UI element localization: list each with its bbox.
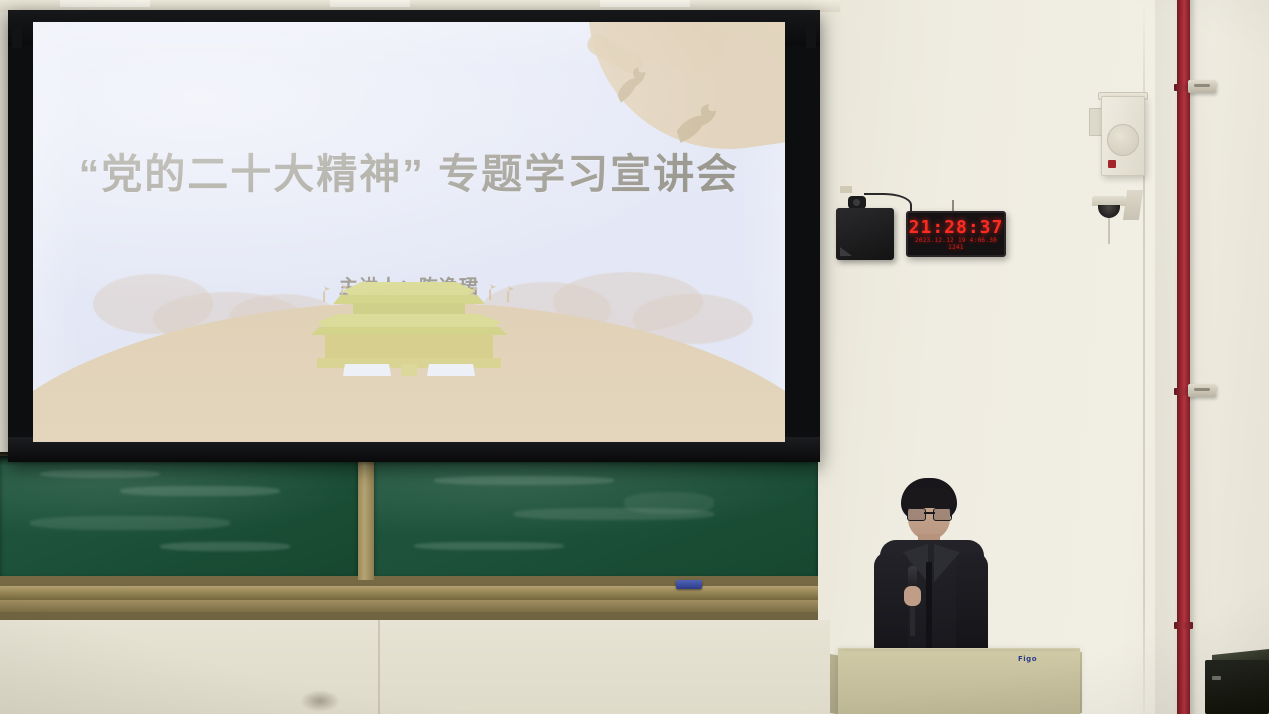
chalkboard-eraser[interactable] [676, 580, 702, 589]
lower-wall-seam [378, 620, 380, 714]
fire-sprinkler-pipe [1177, 0, 1190, 714]
glasses-icon [907, 508, 952, 519]
right-arm [956, 552, 988, 658]
pipe-collar [1174, 622, 1193, 629]
tiananmen-gate-illustration [309, 282, 509, 374]
ceiling-light-reflection [600, 0, 690, 7]
wall-smudge [300, 690, 340, 712]
slide-title: “党的二十大精神” 专题学习宣讲会 [33, 140, 785, 200]
equipment-indicator [1212, 676, 1221, 680]
chalkboard [0, 452, 818, 622]
pipe-bracket [1188, 80, 1216, 93]
chalkboard-panel-right [374, 456, 818, 576]
left-arm [874, 552, 908, 658]
podium-logo: Figo [1018, 655, 1037, 663]
podium [838, 651, 1080, 714]
led-wall-clock: 21:28:37 2023.12.12 19 4:06.30 1241 [906, 211, 1006, 257]
ceiling-light-reflection [60, 0, 150, 7]
ceiling-light-reflection [330, 0, 410, 7]
projected-slide: “党的二十大精神” 专题学习宣讲会 主讲人：陈逸珺 时间：2023年12月12日 [33, 22, 785, 442]
hand [904, 586, 921, 606]
pipe-bracket [1188, 384, 1216, 397]
presenter [866, 478, 996, 658]
black-wall-speaker [836, 208, 894, 260]
jacket-placket [926, 562, 932, 658]
chalkboard-divider [358, 452, 374, 580]
clock-secondary-line: 2023.12.12 19 4:06.30 1241 [908, 237, 1004, 251]
fringe [902, 488, 956, 508]
speaker-logo [1108, 160, 1116, 168]
chalk-ledge-lower [0, 600, 818, 612]
clock-time: 21:28:37 [908, 217, 1004, 238]
chalkboard-panel-left [0, 456, 358, 576]
wall-plate [840, 186, 852, 193]
camera-stem [1108, 218, 1110, 244]
speaker-cone [1107, 124, 1139, 156]
screen-endcap-right [806, 26, 816, 48]
lower-wall [0, 620, 830, 714]
lecture-hall-scene: “党的二十大精神” 专题学习宣讲会 主讲人：陈逸珺 时间：2023年12月12日… [0, 0, 1269, 714]
equipment-cabinet [1205, 660, 1269, 714]
screen-endcap-left [12, 26, 22, 48]
